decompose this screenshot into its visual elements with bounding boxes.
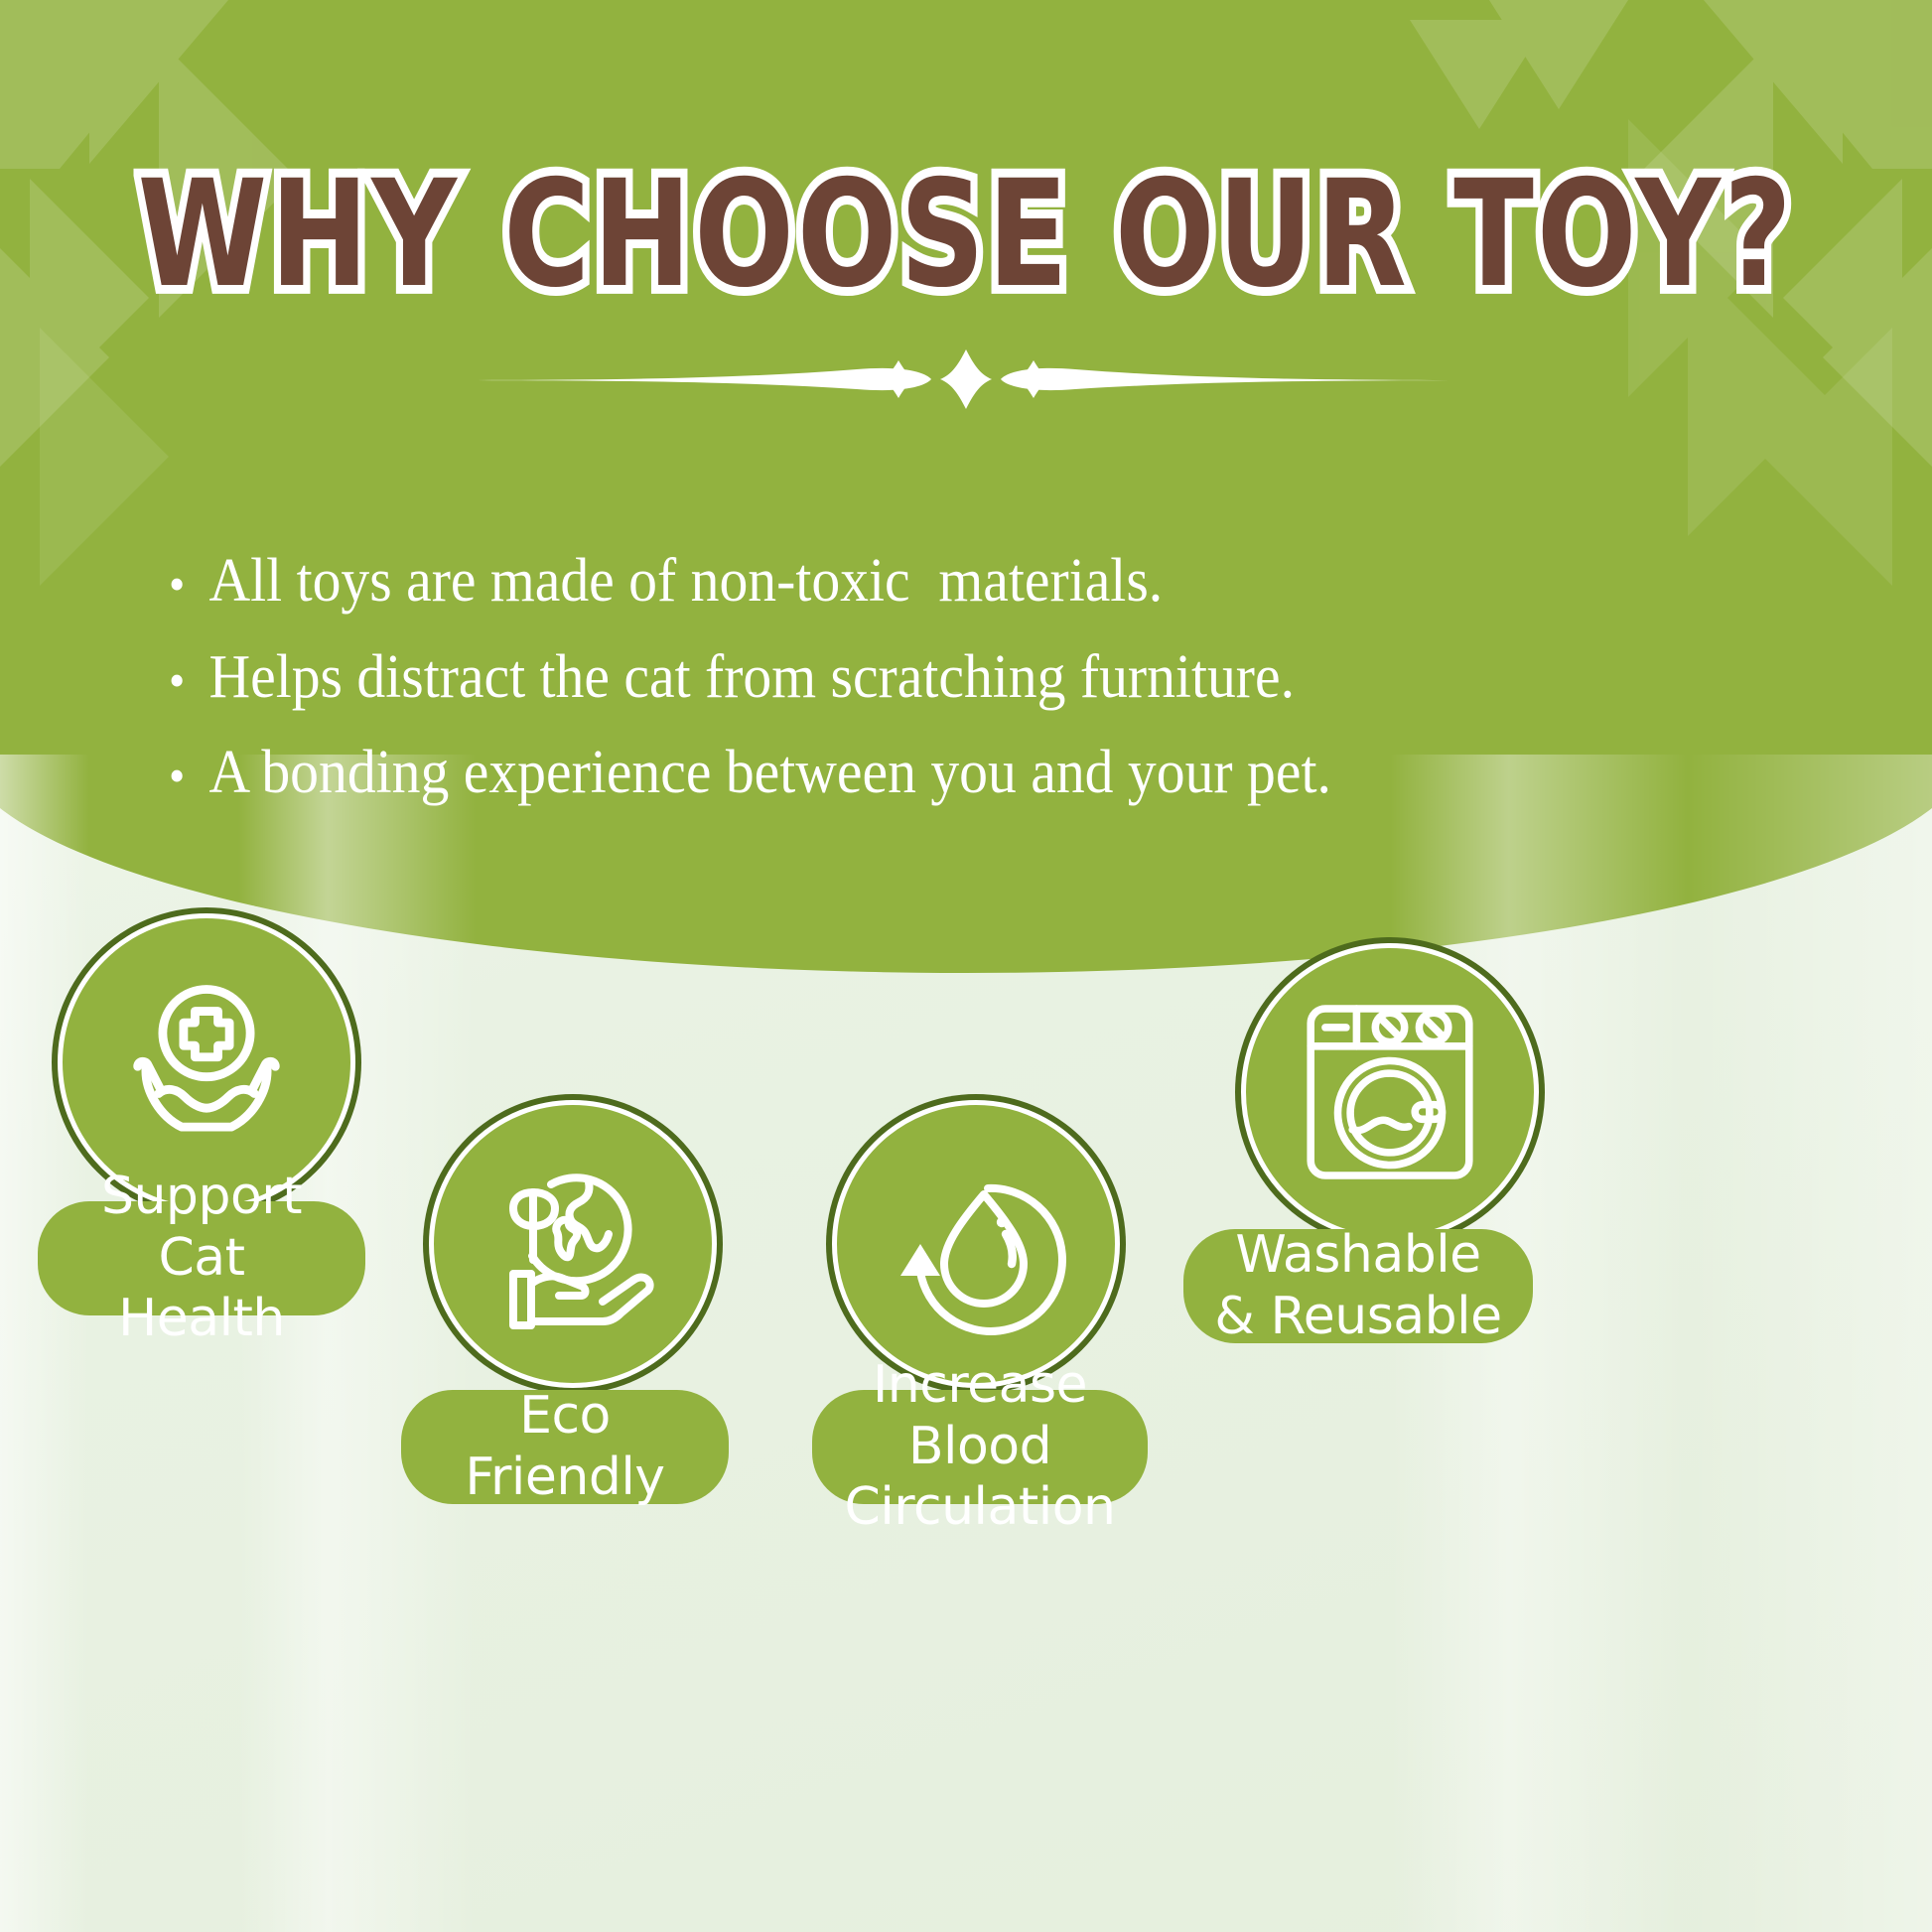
badge-label-line2: & Reusable (1214, 1287, 1501, 1347)
list-item: • All toys are made of non-toxic materia… (169, 541, 1702, 621)
badge-label-line2: Circulation (838, 1477, 1122, 1538)
badge-label-pill: Increase Blood Circulation (812, 1390, 1148, 1504)
badge-icon-circle (1241, 943, 1539, 1241)
badge-label-line1: Eco (465, 1386, 664, 1447)
bullet-dot-icon: • (169, 655, 185, 705)
badge-label-line1: Support Cat (64, 1167, 340, 1289)
divider-ornament (390, 349, 1542, 409)
list-item: • A bonding experience between you and y… (169, 733, 1702, 813)
water-drop-circular-arrow-icon (877, 1145, 1075, 1343)
title-container: WHY CHOOSE OUR TOY? (0, 149, 1932, 283)
hand-holding-globe-leaf-icon (474, 1145, 672, 1343)
badge-label-pill: Eco Friendly (401, 1390, 729, 1504)
washing-machine-icon (1286, 988, 1494, 1196)
badge-icon-circle (429, 1100, 717, 1388)
page-title: WHY CHOOSE OUR TOY? (137, 149, 1794, 321)
badge-label-pill: Washable & Reusable (1183, 1229, 1533, 1343)
badge-icon-circle (832, 1100, 1120, 1388)
bullet-text: All toys are made of non-toxic materials… (208, 541, 1163, 621)
badge-label-line1: Increase Blood (838, 1355, 1122, 1477)
bullet-text: A bonding experience between you and you… (208, 733, 1330, 813)
benefit-bullet-list: • All toys are made of non-toxic materia… (169, 541, 1817, 829)
header-green-panel: WHY CHOOSE OUR TOY? (0, 0, 1932, 1003)
poster-root: WHY CHOOSE OUR TOY? • All toys are made … (0, 0, 1932, 1932)
badge-label-line1: Washable (1214, 1225, 1501, 1286)
bullet-dot-icon: • (169, 751, 185, 800)
hands-holding-medical-cross-icon (102, 958, 311, 1167)
badge-label-pill: Support Cat Health (38, 1201, 365, 1315)
badge-label-line2: Friendly (465, 1448, 664, 1508)
bullet-dot-icon: • (169, 559, 185, 609)
badge-label-line2: Health (64, 1289, 340, 1349)
bullet-text: Helps distract the cat from scratching f… (208, 637, 1295, 718)
list-item: • Helps distract the cat from scratching… (169, 637, 1702, 718)
